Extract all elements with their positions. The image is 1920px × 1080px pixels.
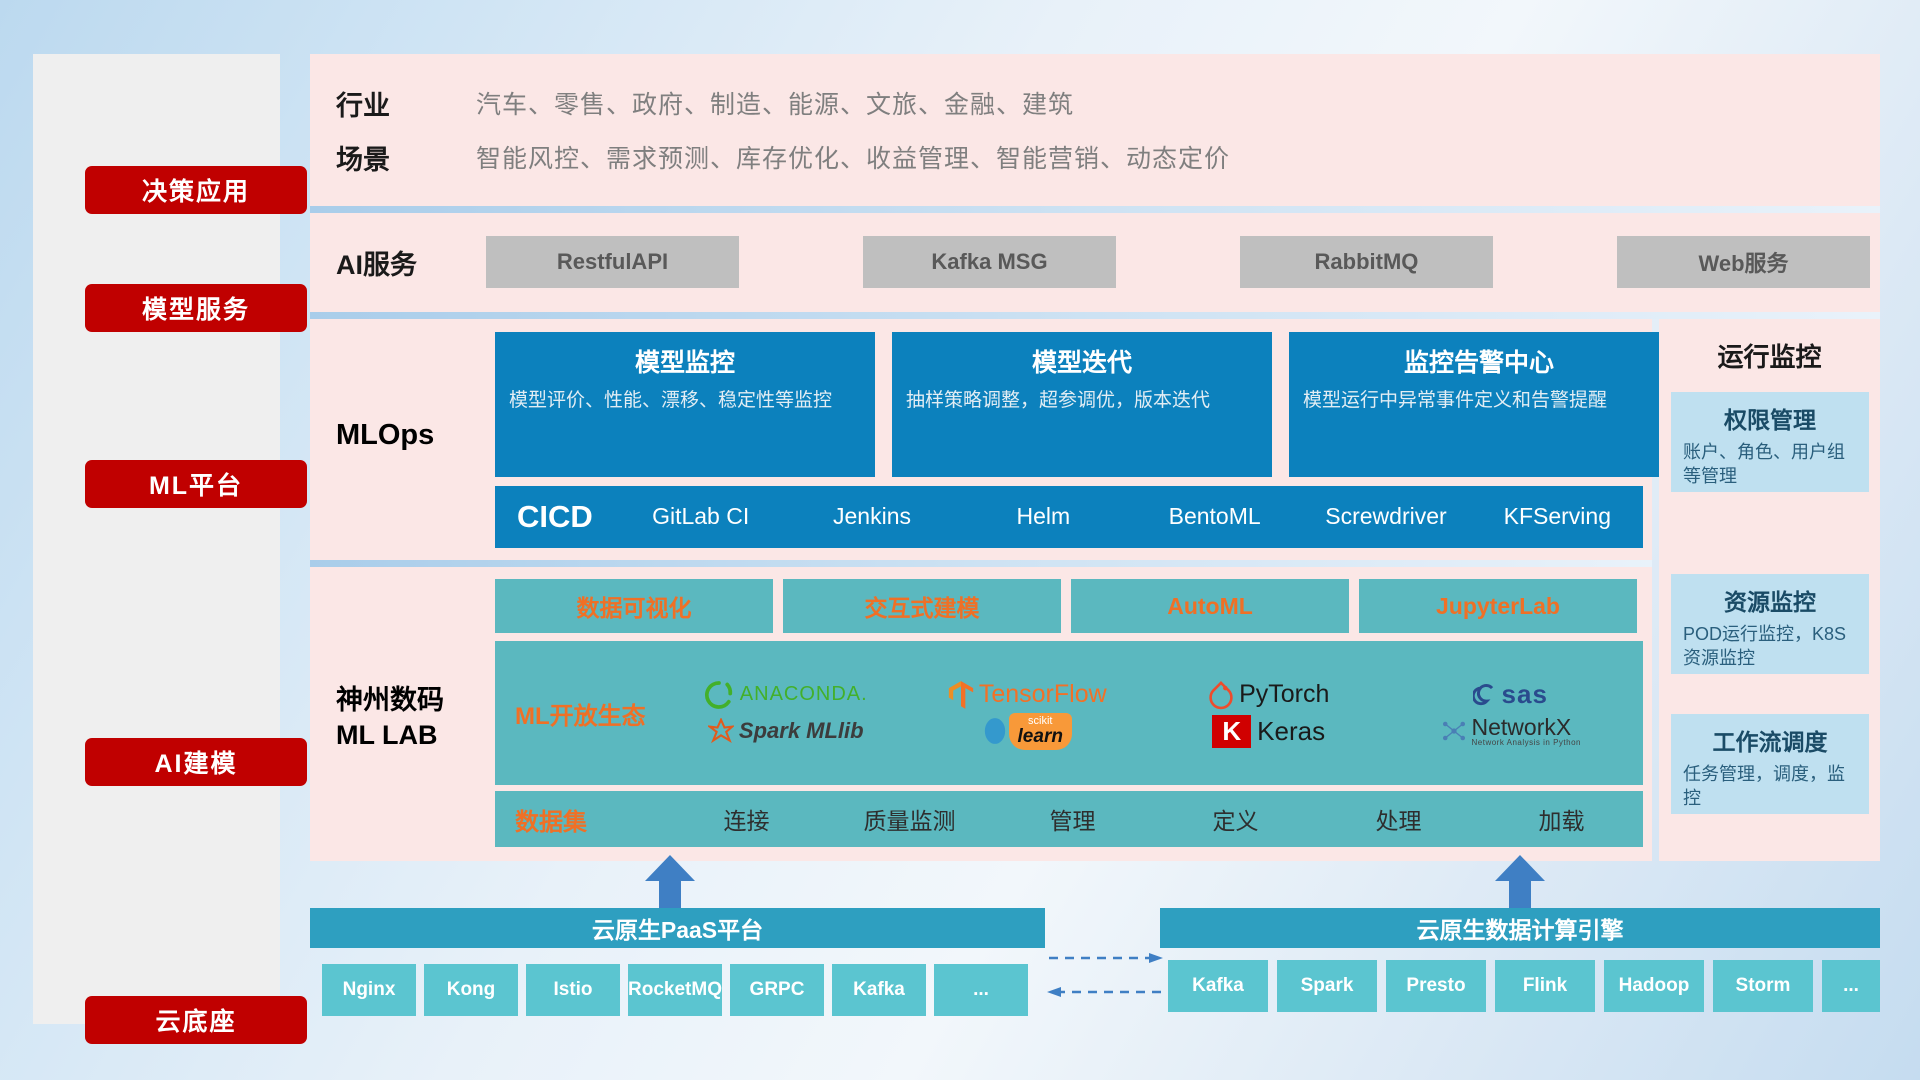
spark-star-icon [708, 718, 734, 744]
arrow-up-data-engine [1495, 855, 1545, 911]
pytorch-icon [1208, 680, 1234, 710]
keras-logo: K Keras [1212, 715, 1325, 748]
decision-apps-band: 行业 汽车、零售、政府、制造、能源、文旅、金融、建筑 场景 智能风控、需求预测、… [310, 54, 1880, 206]
anaconda-logo: ANACONDA. [704, 680, 868, 710]
card-title: 权限管理 [1683, 401, 1857, 435]
service-chip-web[interactable]: Web服务 [1617, 236, 1870, 288]
ml-open-ecosystem-box: ML开放生态 ANACONDA. TensorFlow [495, 641, 1643, 785]
pytorch-wordmark: PyTorch [1239, 680, 1329, 709]
card-desc: 任务管理，调度，监控 [1683, 762, 1857, 810]
networkx-wordmark: NetworkX [1472, 714, 1572, 740]
arrow-up-paas [645, 855, 695, 911]
layer-chip-model-service[interactable]: 模型服务 [85, 284, 307, 332]
sas-icon [1473, 682, 1499, 708]
scikit-learn-logo: scikit learn [983, 713, 1072, 750]
anaconda-icon [704, 680, 734, 710]
data-engine-bar[interactable]: 云原生数据计算引擎 [1160, 908, 1880, 948]
dataset-label: 数据集 [495, 802, 665, 837]
base-chip-kafka[interactable]: Kafka [832, 964, 926, 1016]
ml-open-ecosystem-label: ML开放生态 [495, 696, 665, 731]
card-desc: 抽样策略调整，超参调优，版本迭代 [906, 388, 1258, 413]
base-chip-hadoop[interactable]: Hadoop [1604, 960, 1704, 1012]
base-chip-spark[interactable]: Spark [1277, 960, 1377, 1012]
monitoring-card-workflow[interactable]: 工作流调度 任务管理，调度，监控 [1671, 714, 1869, 814]
layer-chip-ml-platform[interactable]: ML平台 [85, 460, 307, 508]
networkx-icon [1440, 717, 1468, 745]
cicd-item-bentoml[interactable]: BentoML [1129, 486, 1300, 548]
card-desc: 模型评价、性能、漂移、稳定性等监控 [509, 388, 861, 413]
mlops-band: MLOps 模型监控 模型评价、性能、漂移、稳定性等监控 模型迭代 抽样策略调整… [310, 319, 1652, 560]
card-title: 资源监控 [1683, 583, 1857, 617]
card-desc: 模型运行中异常事件定义和告警提醒 [1303, 388, 1655, 413]
card-desc: 账户、角色、用户组等管理 [1683, 440, 1857, 488]
runtime-monitoring-column: 运行监控 权限管理 账户、角色、用户组等管理 资源监控 POD运行监控，K8S资… [1659, 319, 1880, 861]
card-title: 模型迭代 [906, 343, 1258, 379]
base-chip-nginx[interactable]: Nginx [322, 964, 416, 1016]
scenario-label: 场景 [336, 138, 476, 177]
layer-chip-decision-apps[interactable]: 决策应用 [85, 166, 307, 214]
keras-wordmark: Keras [1257, 716, 1325, 747]
service-chip-restfulapi[interactable]: RestfulAPI [486, 236, 739, 288]
tool-chip-interactive-modeling[interactable]: 交互式建模 [783, 579, 1061, 633]
tensorflow-wordmark: TensorFlow [979, 680, 1107, 709]
decision-apps-grid: 行业 汽车、零售、政府、制造、能源、文旅、金融、建筑 场景 智能风控、需求预测、… [336, 76, 1230, 184]
dataset-item-process[interactable]: 处理 [1317, 802, 1480, 836]
band-separator-1 [310, 206, 1880, 213]
cicd-title: CICD [495, 499, 615, 535]
service-chip-kafka-msg[interactable]: Kafka MSG [863, 236, 1116, 288]
base-chip-grpc[interactable]: GRPC [730, 964, 824, 1016]
runtime-monitoring-title: 运行监控 [1659, 319, 1880, 374]
ai-service-band: AI服务 RestfulAPI Kafka MSG RabbitMQ Web服务 [310, 213, 1880, 312]
base-chip-presto[interactable]: Presto [1386, 960, 1486, 1012]
mlops-card-row: 模型监控 模型评价、性能、漂移、稳定性等监控 模型迭代 抽样策略调整，超参调优，… [495, 332, 1669, 477]
base-chip-more-left[interactable]: ... [934, 964, 1028, 1016]
mlops-label: MLOps [336, 419, 434, 452]
pytorch-logo: PyTorch [1208, 680, 1329, 710]
ml-lab-label: 神州数码 ML LAB [336, 683, 444, 753]
base-chip-flink[interactable]: Flink [1495, 960, 1595, 1012]
dataset-item-load[interactable]: 加载 [1480, 802, 1643, 836]
ml-lab-label-line2: ML LAB [336, 718, 444, 753]
base-chip-rocketmq[interactable]: RocketMQ [628, 964, 722, 1016]
scenario-values: 智能风控、需求预测、库存优化、收益管理、智能营销、动态定价 [476, 139, 1230, 175]
tool-chip-jupyterlab[interactable]: JupyterLab [1359, 579, 1637, 633]
dataset-item-list: 连接 质量监测 管理 定义 处理 加载 [665, 802, 1643, 836]
spark-mllib-wordmark: Spark MLlib [739, 718, 864, 744]
base-chip-storm[interactable]: Storm [1713, 960, 1813, 1012]
base-chip-more-right[interactable]: ... [1822, 960, 1880, 1012]
cicd-item-kfserving[interactable]: KFServing [1472, 486, 1643, 548]
cicd-item-gitlab-ci[interactable]: GitLab CI [615, 486, 786, 548]
cicd-item-list: GitLab CI Jenkins Helm BentoML Screwdriv… [615, 486, 1643, 548]
ml-lab-label-line1: 神州数码 [336, 683, 444, 718]
dataset-item-quality-monitoring[interactable]: 质量监测 [828, 802, 991, 836]
card-title: 监控告警中心 [1303, 343, 1655, 379]
layer-chip-cloud-base[interactable]: 云底座 [85, 996, 307, 1044]
dataset-item-manage[interactable]: 管理 [991, 802, 1154, 836]
cicd-item-jenkins[interactable]: Jenkins [786, 486, 957, 548]
cicd-item-screwdriver[interactable]: Screwdriver [1300, 486, 1471, 548]
cicd-item-helm[interactable]: Helm [958, 486, 1129, 548]
mlops-card-model-monitoring[interactable]: 模型监控 模型评价、性能、漂移、稳定性等监控 [495, 332, 875, 477]
monitoring-card-resources[interactable]: 资源监控 POD运行监控，K8S资源监控 [1671, 574, 1869, 674]
cicd-bar: CICD GitLab CI Jenkins Helm BentoML Scre… [495, 486, 1643, 548]
mlops-card-model-iteration[interactable]: 模型迭代 抽样策略调整，超参调优，版本迭代 [892, 332, 1272, 477]
ecosystem-logo-grid: ANACONDA. TensorFlow PyTorch [665, 676, 1643, 750]
tool-chip-automl[interactable]: AutoML [1071, 579, 1349, 633]
ai-service-chip-row: RestfulAPI Kafka MSG RabbitMQ Web服务 [486, 236, 1870, 288]
mlops-card-alert-center[interactable]: 监控告警中心 模型运行中异常事件定义和告警提醒 [1289, 332, 1669, 477]
scikit-orange-blob-icon: scikit learn [1009, 713, 1072, 750]
dataset-row: 数据集 连接 质量监测 管理 定义 处理 加载 [495, 791, 1643, 847]
industry-values: 汽车、零售、政府、制造、能源、文旅、金融、建筑 [476, 85, 1074, 121]
keras-icon: K [1212, 715, 1251, 748]
networkx-logo: NetworkX Network Analysis in Python [1440, 716, 1582, 747]
monitoring-card-permissions[interactable]: 权限管理 账户、角色、用户组等管理 [1671, 392, 1869, 492]
ai-modeling-band: 神州数码 ML LAB 数据可视化 交互式建模 AutoML JupyterLa… [310, 567, 1652, 861]
service-chip-rabbitmq[interactable]: RabbitMQ [1240, 236, 1493, 288]
ai-service-label: AI服务 [336, 243, 417, 282]
base-chip-istio[interactable]: Istio [526, 964, 620, 1016]
dataset-item-connect[interactable]: 连接 [665, 802, 828, 836]
band-separator-3 [310, 560, 1652, 567]
sas-wordmark: sas [1502, 679, 1548, 710]
tensorflow-icon [948, 680, 974, 710]
band-separator-2 [310, 312, 1880, 319]
tensorflow-logo: TensorFlow [948, 680, 1107, 710]
industry-label: 行业 [336, 84, 476, 123]
dataset-item-define[interactable]: 定义 [1154, 802, 1317, 836]
architecture-diagram: 决策应用 模型服务 ML平台 AI建模 云底座 行业 汽车、零售、政府、制造、能… [0, 0, 1920, 1080]
spark-mllib-logo: Spark MLlib [708, 718, 864, 744]
card-desc: POD运行监控，K8S资源监控 [1683, 622, 1857, 670]
scenario-row: 场景 智能风控、需求预测、库存优化、收益管理、智能营销、动态定价 [336, 130, 1230, 184]
card-title: 模型监控 [509, 343, 861, 379]
layer-chip-ai-modeling[interactable]: AI建模 [85, 738, 307, 786]
layer-rail: 决策应用 模型服务 ML平台 AI建模 云底座 [33, 54, 280, 1024]
scikit-blue-blob-icon [983, 716, 1007, 746]
networkx-tagline: Network Analysis in Python [1472, 739, 1582, 747]
bidirectional-dashed-link [1045, 940, 1165, 1010]
industry-row: 行业 汽车、零售、政府、制造、能源、文旅、金融、建筑 [336, 76, 1230, 130]
tool-chip-data-visualization[interactable]: 数据可视化 [495, 579, 773, 633]
base-chip-kong[interactable]: Kong [424, 964, 518, 1016]
card-title: 工作流调度 [1683, 723, 1857, 757]
sas-logo: sas [1473, 679, 1548, 710]
base-chip-kafka-right[interactable]: Kafka [1168, 960, 1268, 1012]
anaconda-wordmark: ANACONDA. [740, 683, 868, 706]
modeling-tools-row: 数据可视化 交互式建模 AutoML JupyterLab [495, 579, 1637, 633]
paas-platform-bar[interactable]: 云原生PaaS平台 [310, 908, 1045, 948]
